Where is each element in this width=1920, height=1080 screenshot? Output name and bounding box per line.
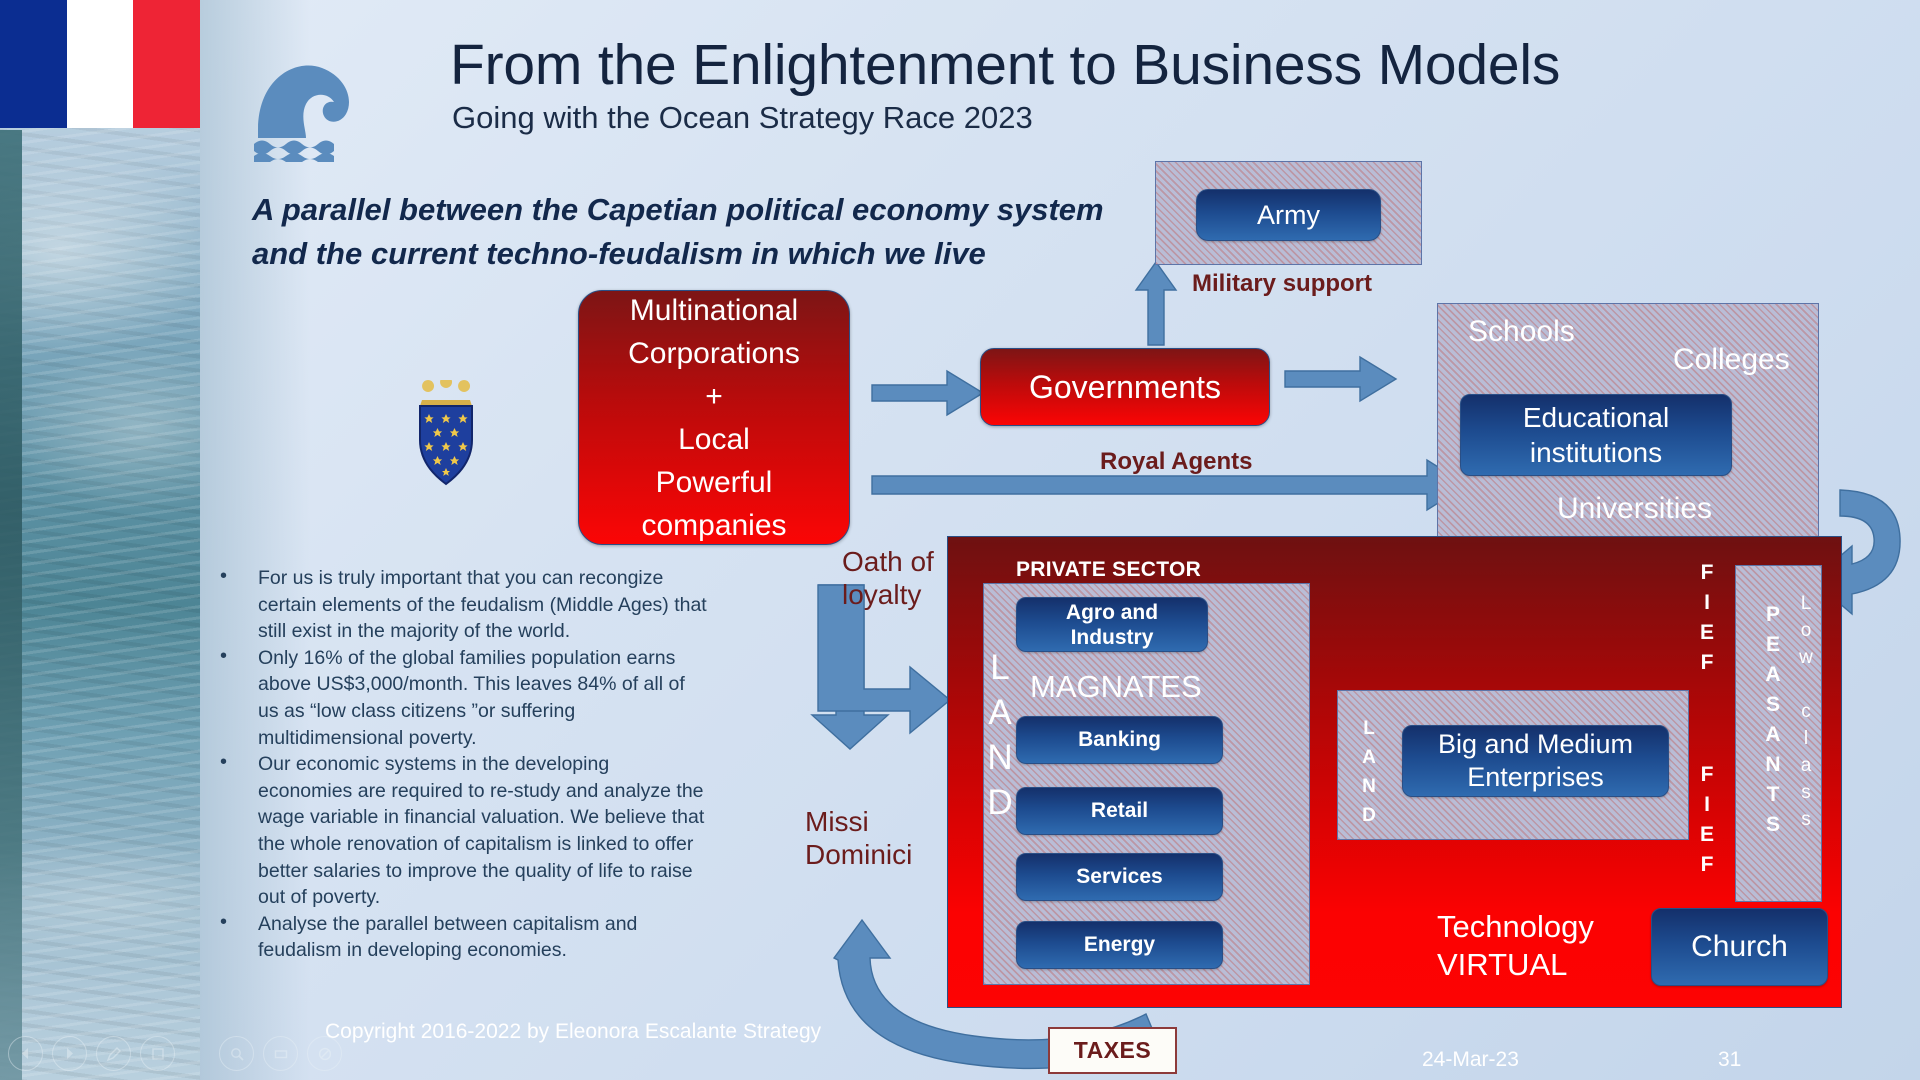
land-label-left: LAND [986, 645, 1014, 825]
low-class-label: Lowclass [1795, 590, 1817, 833]
missi-line-1: Missi [805, 805, 912, 838]
universities-label: Universities [1557, 492, 1712, 526]
mnc-line-4: Local [628, 418, 800, 461]
military-support-label: Military support [1192, 270, 1372, 298]
educational-institutions-box[interactable]: Educational institutions [1460, 394, 1732, 476]
sector-retail[interactable]: Retail [1016, 787, 1223, 835]
oath-line-2: loyalty [842, 578, 934, 611]
missi-line-2: Dominici [805, 838, 912, 871]
previous-slide-button[interactable] [8, 1036, 43, 1071]
schools-label: Schools [1468, 315, 1575, 349]
sector-energy[interactable]: Energy [1016, 921, 1223, 969]
edu-line-1: Educational [1523, 400, 1669, 435]
sector-services[interactable]: Services [1016, 853, 1223, 901]
private-sector-label: PRIVATE SECTOR [1016, 558, 1201, 582]
multinational-corporations-box[interactable]: Multinational Corporations + Local Power… [578, 290, 850, 545]
oath-of-loyalty-label: Oath of loyalty [842, 545, 934, 611]
virtual-label: VIRTUAL [1437, 946, 1594, 984]
bme-line-2: Enterprises [1438, 761, 1633, 794]
zoom-button[interactable] [219, 1036, 254, 1071]
royal-agents-label: Royal Agents [1100, 448, 1252, 476]
agro-line-2: Industry [1066, 625, 1158, 650]
missi-dominici-label: Missi Dominici [805, 805, 912, 871]
magnates-label: MAGNATES [1030, 669, 1202, 705]
mnc-line-6: companies [628, 504, 800, 547]
oath-line-1: Oath of [842, 545, 934, 578]
mnc-line-1: Multinational [628, 289, 800, 332]
copyright-text: Copyright 2016-2022 by Eleonora Escalant… [325, 1020, 821, 1044]
slideshow-controls [8, 1036, 342, 1071]
pen-tool-button[interactable] [96, 1036, 131, 1071]
next-slide-button[interactable] [52, 1036, 87, 1071]
sector-banking[interactable]: Banking [1016, 716, 1223, 764]
edu-line-2: institutions [1523, 435, 1669, 470]
mnc-line-2: Corporations [628, 332, 800, 375]
land-label-right: LAND [1358, 714, 1380, 830]
fief-label-lower: FIEF [1694, 760, 1720, 880]
slide-canvas: From the Enlightenment to Business Model… [0, 0, 1920, 1080]
bme-line-1: Big and Medium [1438, 728, 1633, 761]
colleges-label: Colleges [1673, 343, 1790, 377]
mnc-line-5: Powerful [628, 461, 800, 504]
church-box[interactable]: Church [1651, 908, 1828, 986]
footer-date: 24-Mar-23 [1422, 1048, 1519, 1072]
slide-view-button[interactable] [140, 1036, 175, 1071]
technology-virtual-label: Technology VIRTUAL [1437, 908, 1594, 984]
more-options-button[interactable] [307, 1036, 342, 1071]
taxes-box[interactable]: TAXES [1048, 1027, 1177, 1074]
agro-line-1: Agro and [1066, 600, 1158, 625]
peasants-label: PEASANTS [1760, 600, 1786, 840]
big-and-medium-enterprises-box[interactable]: Big and Medium Enterprises [1402, 725, 1669, 797]
sector-agro-and-industry[interactable]: Agro and Industry [1016, 597, 1208, 652]
technology-label: Technology [1437, 908, 1594, 946]
notes-button[interactable] [263, 1036, 298, 1071]
mnc-line-3: + [628, 375, 800, 418]
footer-page-number: 31 [1718, 1048, 1741, 1072]
army-box[interactable]: Army [1196, 189, 1381, 241]
fief-label-upper: FIEF [1694, 558, 1720, 678]
governments-box[interactable]: Governments [980, 348, 1270, 426]
